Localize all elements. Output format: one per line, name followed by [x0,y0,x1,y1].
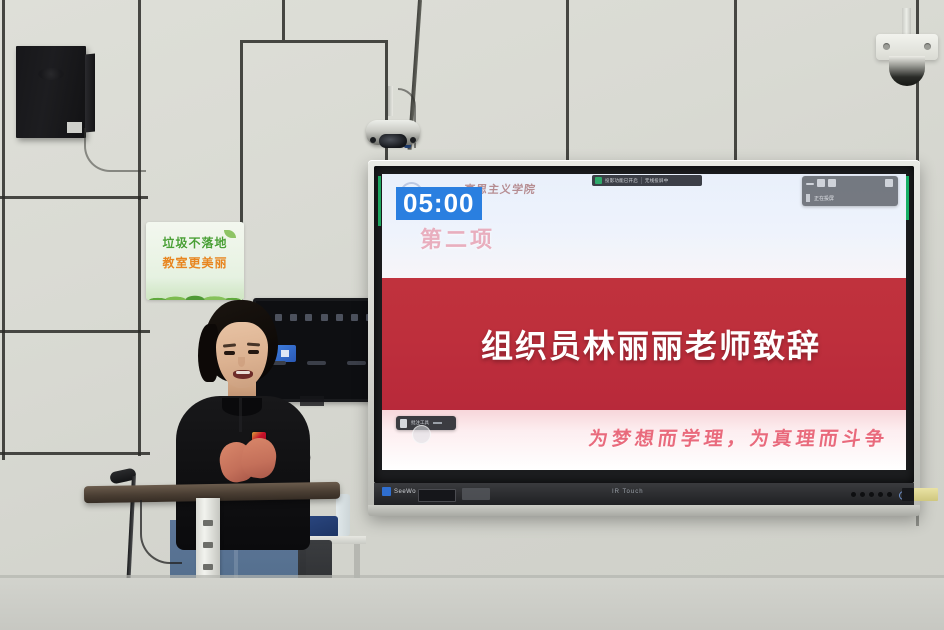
board-top-camera-icon [366,112,420,146]
wall-panel-line [2,210,5,460]
speaker-cable [84,128,146,172]
maximize-icon[interactable] [828,179,836,187]
ceiling-dome-camera-icon [876,8,938,90]
bezel-control-buttons[interactable] [851,492,892,497]
panel-icon [321,314,328,321]
panel-icon [336,314,343,321]
bezel-module-slot [418,489,456,502]
water-bottle [336,494,350,536]
power-led-left [378,176,381,226]
wall-panel-line [2,0,5,210]
notification-divider [641,177,642,184]
poster-tree-graphic [146,278,244,300]
wall-panel-line [0,452,150,455]
classroom-scene: 垃圾不落地 教室更美丽 [0,0,944,630]
floor [0,578,944,630]
wall-panel-line [138,196,141,456]
smartboard-center-mark: IR Touch [612,489,644,495]
floating-round-button[interactable] [412,425,431,444]
presenter-eye [248,350,259,354]
smartboard-shelf [368,505,920,516]
speaker-label-tag [67,122,82,133]
bezel-button[interactable] [878,492,883,497]
camera-lens [379,134,407,148]
presenter-collar [222,398,262,416]
presenter-hair-side [198,324,218,382]
wall-speaker [16,46,86,138]
minimize-icon[interactable] [806,183,814,185]
brand-logo-icon [382,487,391,496]
close-icon[interactable] [885,179,893,187]
wall-panel-line [566,0,569,168]
window-status-row: 正在投屏 [806,194,834,202]
slide-footer-area: 为梦想而学理，为真理而斗争 [382,410,906,470]
pen-icon[interactable] [400,419,407,428]
bezel-button[interactable] [851,492,856,497]
screen-notification-bar[interactable]: 投影功能已开启 无线投屏中 [592,175,702,186]
wall-panel-line [0,330,150,333]
presenter-nose [238,357,245,367]
poster-line-2: 教室更美丽 [146,254,244,271]
camera-body [366,120,420,145]
presenter [168,300,318,550]
slide-headline-band: 组织员林丽丽老师致辞 [382,278,906,410]
notification-text-left: 投影功能已开启 [605,178,638,184]
camera-microphone [370,137,376,143]
countdown-timer[interactable]: 05:00 [396,187,482,220]
presenter-mouth [233,370,253,379]
speaker-grille [38,68,64,80]
drag-handle[interactable] [433,422,442,424]
slide-headline: 组织员林丽丽老师致辞 [481,321,821,367]
presentation-slide: 高思主义学院 SCHOOL OF MARXISM 05:00 第二项 组织员林丽… [382,174,906,470]
smartboard-brand: SeeWo [382,487,416,496]
bezel-port [902,488,914,501]
smartboard-screen[interactable]: 高思主义学院 SCHOOL OF MARXISM 05:00 第二项 组织员林丽… [382,174,906,470]
notification-text-right: 无线投屏中 [645,178,669,184]
camera-microphone [410,137,416,143]
mount-screw [883,43,890,50]
wall-panel-line [0,196,148,199]
notification-status-icon [595,177,602,184]
window-status-label: 正在投屏 [814,195,834,202]
slide-section-label: 第二项 [420,222,495,254]
bezel-button[interactable] [869,492,874,497]
mount-screw [924,43,931,50]
cast-icon [806,194,810,202]
presenter-eye [224,351,235,355]
panel-button[interactable] [347,361,366,365]
brand-name: SeeWo [394,489,416,495]
podium-port [203,564,213,570]
camera-dome [889,56,925,86]
bezel-label-plate [462,488,490,500]
window-control-buttons [806,179,836,187]
classroom-hygiene-poster: 垃圾不落地 教室更美丽 [146,222,244,300]
panel-icon [351,314,358,321]
window-control-panel[interactable]: 正在投屏 [802,176,898,206]
podium-port [203,542,213,548]
bezel-asset-tag [914,488,938,501]
restore-icon[interactable] [817,179,825,187]
podium-port [203,520,213,526]
wall-panel-door [240,40,388,287]
wall-panel-line [734,0,737,160]
slide-slogan: 为梦想而学理，为真理而斗争 [587,424,890,451]
bezel-button[interactable] [860,492,865,497]
bezel-button[interactable] [887,492,892,497]
wall-panel-line [282,0,285,40]
